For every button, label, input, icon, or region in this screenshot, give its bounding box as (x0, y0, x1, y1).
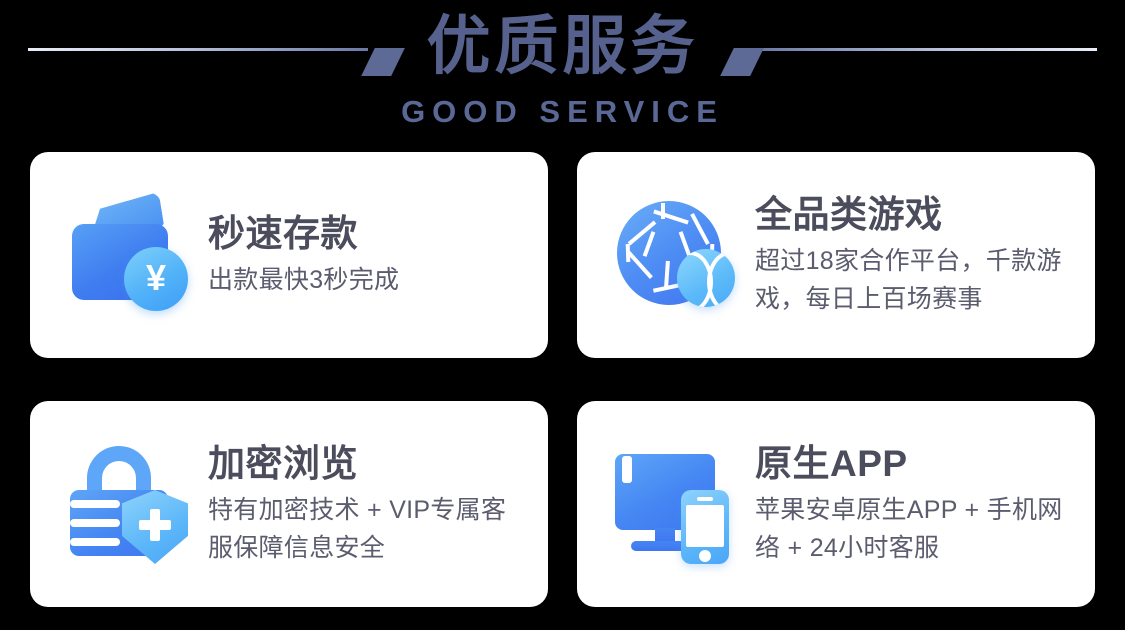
feature-card-desc: 超过18家合作平台，千款游戏，每日上百场赛事 (755, 242, 1073, 318)
lock-slot-icon (70, 500, 120, 508)
page-title: 优质服务 (0, 6, 1125, 86)
wallet-yen-icon: ¥ (64, 191, 196, 319)
feature-card-text: 全品类游戏 超过18家合作平台，千款游戏，每日上百场赛事 (755, 192, 1073, 318)
banner-header: 优质服务 GOOD SERVICE (0, 0, 1125, 145)
phone-home-button-icon (699, 550, 711, 562)
phone-screen-icon (686, 505, 724, 547)
feature-card-desc: 苹果安卓原生APP + 手机网络 + 24小时客服 (755, 491, 1073, 567)
lock-shield-icon (64, 440, 196, 568)
feature-card-title: 秒速存款 (208, 211, 526, 257)
feature-card-text: 原生APP 苹果安卓原生APP + 手机网络 + 24小时客服 (755, 441, 1073, 567)
feature-card-games[interactable]: 全品类游戏 超过18家合作平台，千款游戏，每日上百场赛事 (577, 152, 1095, 358)
promo-banner: 优质服务 GOOD SERVICE ¥ 秒速存款 出款最快3秒完成 (0, 0, 1125, 630)
feature-card-deposit[interactable]: ¥ 秒速存款 出款最快3秒完成 (30, 152, 548, 358)
monitor-phone-icon (611, 440, 743, 568)
phone-icon (681, 490, 729, 564)
yen-coin-icon: ¥ (124, 247, 188, 311)
feature-card-desc: 出款最快3秒完成 (208, 261, 526, 299)
feature-card-desc: 特有加密技术 + VIP专属客服保障信息安全 (208, 491, 526, 567)
soccer-basketball-icon (611, 191, 743, 319)
lock-slot-icon (70, 538, 120, 546)
lock-slot-icon (70, 519, 120, 527)
feature-card-encryption[interactable]: 加密浏览 特有加密技术 + VIP专属客服保障信息安全 (30, 401, 548, 607)
feature-card-title: 原生APP (755, 441, 1073, 487)
feature-card-text: 秒速存款 出款最快3秒完成 (208, 211, 526, 299)
feature-card-native-app[interactable]: 原生APP 苹果安卓原生APP + 手机网络 + 24小时客服 (577, 401, 1095, 607)
basketball-icon (677, 249, 735, 307)
plus-icon (138, 508, 172, 542)
feature-card-text: 加密浏览 特有加密技术 + VIP专属客服保障信息安全 (208, 441, 526, 567)
feature-card-grid: ¥ 秒速存款 出款最快3秒完成 (30, 152, 1095, 607)
monitor-screen-icon (622, 456, 632, 483)
feature-card-title: 全品类游戏 (755, 192, 1073, 238)
yen-symbol: ¥ (146, 260, 166, 296)
phone-speaker-icon (697, 497, 713, 501)
page-subtitle: GOOD SERVICE (0, 94, 1125, 130)
feature-card-title: 加密浏览 (208, 441, 526, 487)
